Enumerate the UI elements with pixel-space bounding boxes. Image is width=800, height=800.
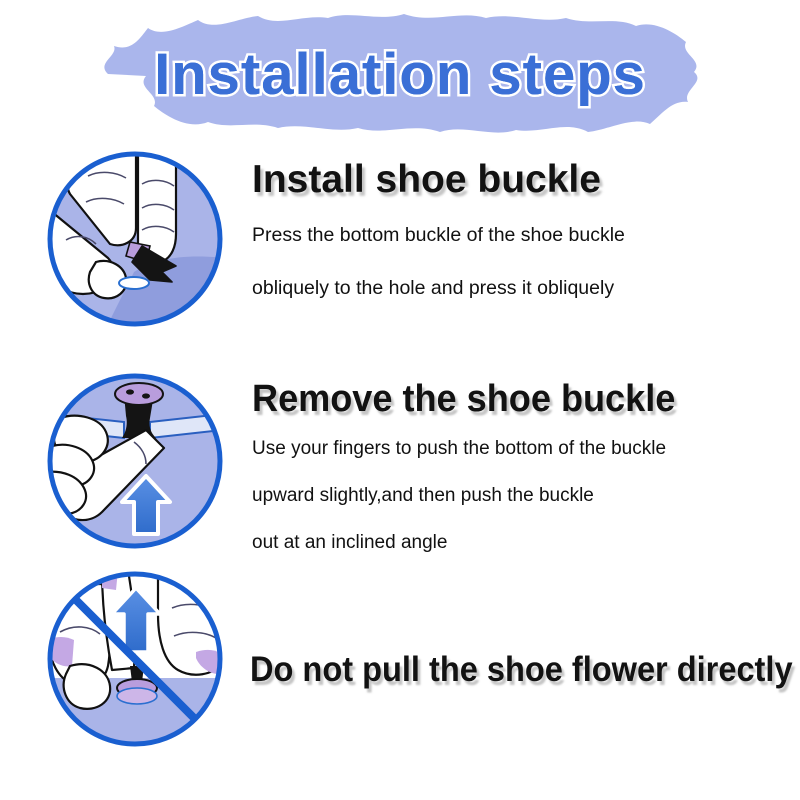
banner-title: Installation steps xyxy=(88,8,712,140)
step-3-text: Do not pull the shoe flower directly xyxy=(250,652,800,687)
installation-steps-page: Installation steps Installation steps xyxy=(0,0,800,800)
remove-shoe-buckle-illustration xyxy=(46,372,224,550)
step-2-line-2: upward slightly,and then push the buckle xyxy=(252,479,698,512)
step-1-line-2: obliquely to the hole and press it obliq… xyxy=(252,272,625,305)
step-2-line-3: out at an inclined angle xyxy=(252,526,698,559)
step-1-line-1: Press the bottom buckle of the shoe buck… xyxy=(252,219,625,252)
step-1-text: Install shoe buckle Press the bottom buc… xyxy=(252,160,625,305)
step-3-heading: Do not pull the shoe flower directly xyxy=(250,652,793,687)
step-2-heading: Remove the shoe buckle xyxy=(252,380,675,418)
install-shoe-buckle-illustration xyxy=(46,150,224,328)
do-not-pull-illustration xyxy=(46,570,224,748)
title-banner: Installation steps Installation steps xyxy=(88,8,712,140)
step-1-heading: Install shoe buckle xyxy=(252,160,625,199)
step-2-text: Remove the shoe buckle Use your fingers … xyxy=(252,380,698,559)
step-2-line-1: Use your fingers to push the bottom of t… xyxy=(252,432,698,465)
